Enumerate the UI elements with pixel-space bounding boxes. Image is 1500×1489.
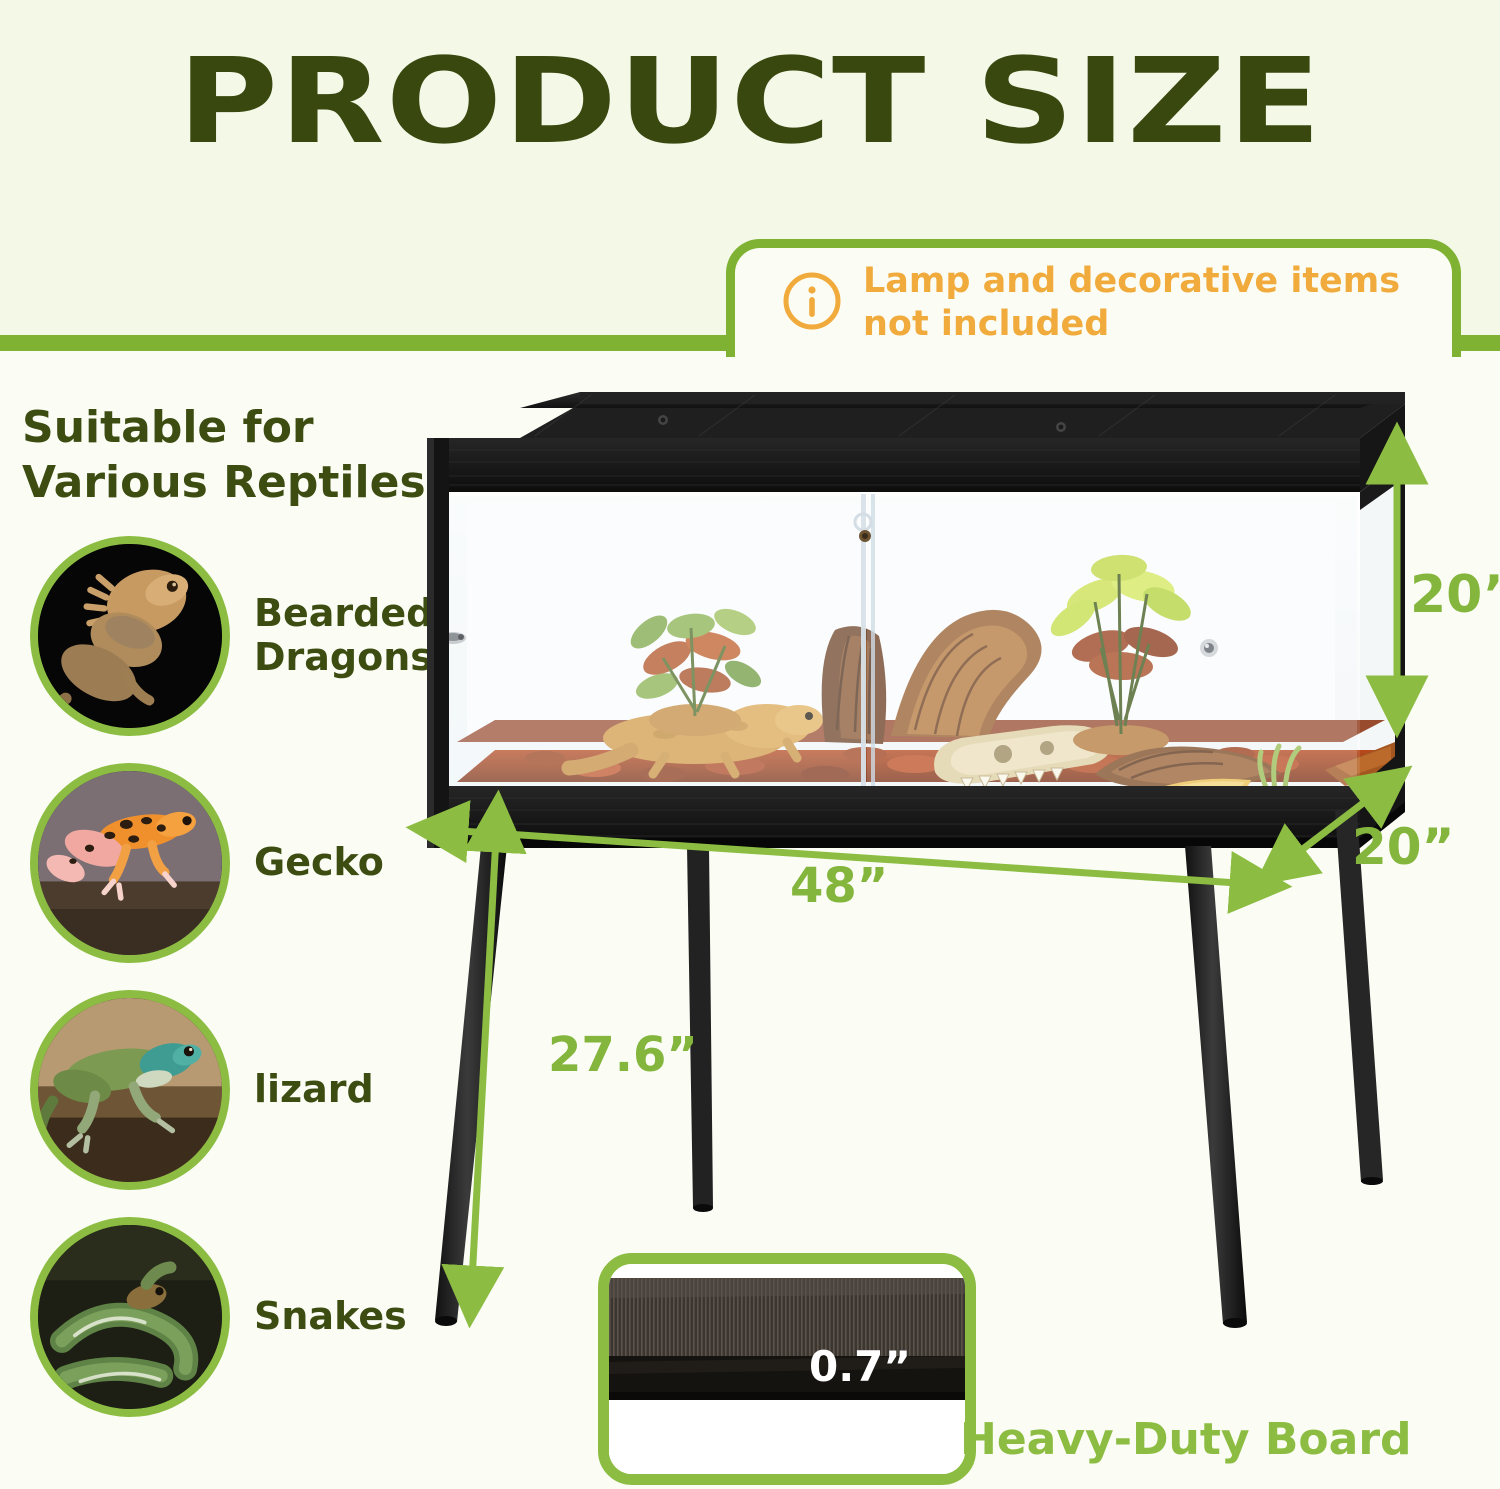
header-green-rule <box>0 335 760 351</box>
product-size-infographic: PRODUCT SIZE Lamp and decorative items n… <box>0 0 1500 1489</box>
snake-photo <box>30 1217 230 1417</box>
dimension-height-label: 20” <box>1410 565 1500 625</box>
sidebar-heading: Suitable for Various Reptiles <box>22 400 452 510</box>
lizard-photo <box>30 990 230 1190</box>
board-detail-callout: 0.7” <box>598 1253 976 1485</box>
reptile-item-bearded-dragons: Bearded Dragons <box>30 528 450 743</box>
product-illustration <box>395 390 1405 1350</box>
sidebar-heading-line2: Various Reptiles <box>22 455 452 510</box>
dimension-depth-label: 20” <box>1352 818 1454 876</box>
board-thickness-label: 0.7” <box>809 1342 911 1391</box>
dimension-width-label: 48” <box>790 858 888 914</box>
reptile-item-gecko: Gecko <box>30 755 450 970</box>
info-callout-foot <box>1452 335 1500 351</box>
reptile-label: Snakes <box>254 1295 407 1339</box>
info-callout-text: Lamp and decorative items not included <box>863 260 1443 345</box>
reptile-item-snakes: Snakes <box>30 1209 450 1424</box>
info-callout-box: Lamp and decorative items not included <box>726 239 1461 357</box>
bearded-dragon-photo <box>30 536 230 736</box>
reptile-label: Gecko <box>254 841 384 885</box>
page-title: PRODUCT SIZE <box>0 42 1500 160</box>
reptile-item-lizard: lizard <box>30 982 450 1197</box>
dimension-leg-height-label: 27.6” <box>548 1027 698 1083</box>
reptile-label: lizard <box>254 1068 374 1112</box>
info-circle-icon <box>781 270 843 332</box>
heavy-duty-board-label: Heavy-Duty Board <box>960 1414 1412 1465</box>
sidebar-heading-line1: Suitable for <box>22 400 452 455</box>
gecko-photo <box>30 763 230 963</box>
